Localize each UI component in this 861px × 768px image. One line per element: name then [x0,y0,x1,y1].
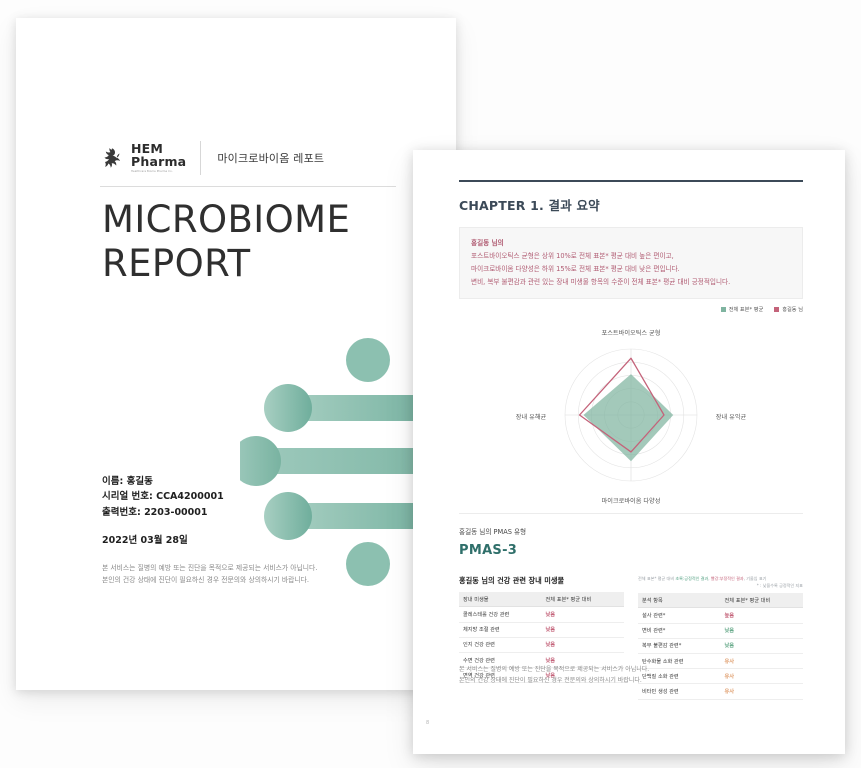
row-comparison-value: 낮음 [542,622,625,637]
row-comparison-value: 높음 [721,608,804,623]
meta-print-number: 출력번호: 2203-00001 [102,505,224,520]
row-comparison-value: 낮음 [542,637,625,652]
chart-legend: 전체 표본* 평균 홍길동 님 [459,306,803,313]
summary-line-3: 변비, 복부 불편감과 관련 있는 장내 미생물 항목의 수준이 전체 표본* … [471,276,791,289]
report-footer-line-2: 본인의 건강 상태에 진단이 필요하신 경우 전문의와 상의하시기 바랍니다. [459,675,803,686]
cover-metadata: 이름: 홍길동 시리얼 번호: CCA4200001 출력번호: 2203-00… [102,474,224,549]
table-color-note: 전체 표본* 평균 대비 초록:긍정적인 결과, 빨강:부정적인 결과, 기울임… [638,576,803,589]
legend-item-user: 홍길동 님 [774,306,803,313]
table-row: 체지방 조절 관련낮음 [459,622,624,637]
table-right-header-item: 분석 항목 [638,593,721,608]
legend-item-average: 전체 표본* 평균 [721,306,764,313]
cover-header: HEM Pharma Healthcare Biome Pharma Co. 마… [100,130,396,187]
row-item-label: 콜레스테롤 건강 관련 [459,607,542,622]
legend-label-user: 홍길동 님 [782,306,803,313]
radar-axis-label: 마이크로바이옴 다양성 [602,497,661,505]
logo-tagline: Healthcare Biome Pharma Co. [131,171,186,174]
table-row: 설사 관련*높음 [638,608,803,623]
row-item-label: 복부 불편감 관련* [638,638,721,653]
note-line-2: * : 낮을수록 긍정적인 지표 [638,583,803,590]
table-header-row: 분석 항목 전체 표본* 평균 대비 [638,593,803,608]
screenshot-stage: HEM Pharma Healthcare Biome Pharma Co. 마… [0,0,861,768]
table-right-header-value: 전체 표본* 평균 대비 [721,593,804,608]
logo-line-2: Pharma [131,156,186,169]
note-positive: 초록:긍정적인 결과 [675,576,708,581]
note-prefix: 전체 표본* 평균 대비 [638,576,675,581]
page-number: 8 [426,720,429,726]
radar-chart: 포스트바이오틱스 균형장내 유익균마이크로바이옴 다양성장내 유해균 [459,315,803,505]
table-header-row: 장내 미생물 전체 표본* 평균 대비 [459,592,624,607]
hem-pharma-logo: HEM Pharma Healthcare Biome Pharma Co. [100,141,201,175]
pmas-section: 홍길동 님의 PMAS 유형 PMAS-3 [459,513,803,558]
table-left-caption: 홍길동 님의 건강 관련 장내 미생물 [459,576,624,586]
report-footer-line-1: 본 서비스는 질병의 예방 또는 진단을 목적으로 제공되는 서비스가 아닙니다… [459,664,803,675]
row-item-label: 변비 관련* [638,623,721,638]
meta-date: 2022년 03월 28일 [102,533,224,548]
row-comparison-value: 낮음 [721,638,804,653]
legend-swatch-user-icon [774,307,779,312]
table-left-header-value: 전체 표본* 평균 대비 [542,592,625,607]
pmas-value: PMAS-3 [459,543,803,558]
meta-name: 이름: 홍길동 [102,474,224,489]
cover-page: HEM Pharma Healthcare Biome Pharma Co. 마… [16,18,456,690]
report-footer: 본 서비스는 질병의 예방 또는 진단을 목적으로 제공되는 서비스가 아닙니다… [459,664,803,686]
row-item-label: 체지방 조절 관련 [459,622,542,637]
row-item-label: 설사 관련* [638,608,721,623]
table-row: 콜레스테롤 건강 관련낮음 [459,607,624,622]
top-rule-divider [459,180,803,182]
chapter-title: CHAPTER 1. 결과 요약 [459,195,803,214]
summary-line-2: 마이크로바이옴 다양성은 하위 15%로 전체 표본* 평균 대비 낮은 편입니… [471,263,791,276]
table-row: 변비 관련*낮음 [638,623,803,638]
summary-name-line: 홍길동 님의 [471,237,791,250]
radar-axis-label: 장내 유해균 [516,413,547,421]
summary-box: 홍길동 님의 포스트바이오틱스 균형은 상위 10%로 전체 표본* 평균 대비… [459,227,803,299]
radar-axis-label: 장내 유익균 [716,413,747,421]
legend-label-average: 전체 표본* 평균 [729,306,764,313]
note-suffix: , 기울임 표기 [744,576,767,581]
row-item-label: 인지 건강 관련 [459,637,542,652]
table-row: 복부 불편감 관련*낮음 [638,638,803,653]
hem-pharma-mark-icon [100,146,124,170]
row-comparison-value: 낮음 [721,623,804,638]
cover-title: MICROBIOME REPORT [102,198,422,285]
radar-axis-label: 포스트바이오틱스 균형 [602,329,661,337]
pmas-label: 홍길동 님의 PMAS 유형 [459,526,803,536]
table-left-header-item: 장내 미생물 [459,592,542,607]
note-negative: 빨강:부정적인 결과 [711,576,744,581]
row-comparison-value: 낮음 [542,607,625,622]
meta-serial: 시리얼 번호: CCA4200001 [102,489,224,504]
report-page: CHAPTER 1. 결과 요약 홍길동 님의 포스트바이오틱스 균형은 상위 … [413,150,845,754]
report-content: CHAPTER 1. 결과 요약 홍길동 님의 포스트바이오틱스 균형은 상위 … [459,180,803,700]
table-row: 인지 건강 관련낮음 [459,637,624,652]
hem-pharma-wordmark: HEM Pharma Healthcare Biome Pharma Co. [131,143,186,174]
legend-swatch-average-icon [721,307,726,312]
summary-line-1: 포스트바이오틱스 균형은 상위 10%로 전체 표본* 평균 대비 높은 편이고… [471,250,791,263]
cover-header-subtitle: 마이크로바이옴 레포트 [217,150,324,166]
